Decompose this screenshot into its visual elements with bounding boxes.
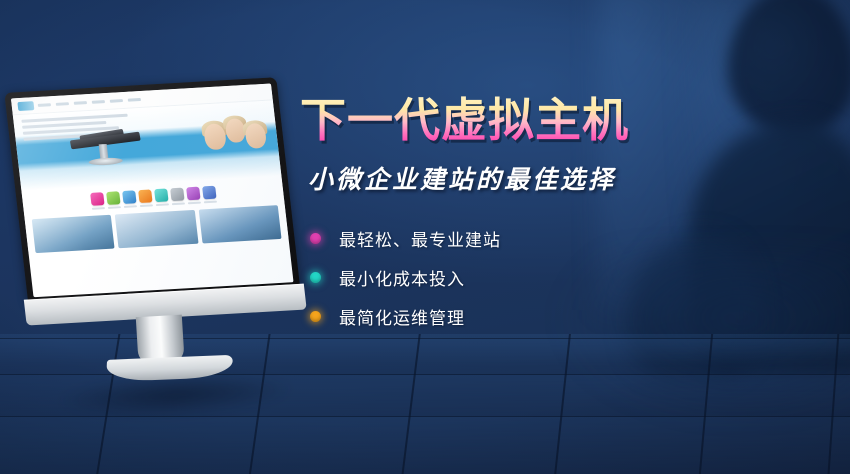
website-app-icon bbox=[154, 188, 168, 202]
promo-banner: 下一代虚拟主机 小微企业建站的最佳选择 最轻松、最专业建站 最小化成本投入 最简… bbox=[0, 0, 850, 474]
website-app-icon bbox=[122, 190, 136, 204]
feature-label: 最小化成本投入 bbox=[339, 265, 465, 290]
feature-label: 最轻松、最专业建站 bbox=[339, 226, 501, 251]
website-card bbox=[115, 210, 198, 248]
website-hero-people-photo bbox=[200, 115, 271, 163]
website-app-icon bbox=[202, 186, 216, 200]
website-nav-item bbox=[128, 97, 141, 101]
monitor-screen bbox=[11, 83, 294, 297]
website-card bbox=[198, 205, 281, 243]
banner-text-content: 下一代虚拟主机 小微企业建站的最佳选择 最轻松、最专业建站 最小化成本投入 最简… bbox=[300, 96, 720, 343]
website-nav-item bbox=[92, 100, 105, 104]
feature-list-item: 最简化运维管理 bbox=[306, 304, 720, 329]
website-hero-product-image bbox=[69, 130, 143, 168]
bullet-dot-orange bbox=[306, 307, 325, 326]
banner-title: 下一代虚拟主机 bbox=[300, 96, 720, 146]
website-nav-item bbox=[56, 102, 69, 106]
website-app-icon bbox=[106, 191, 120, 205]
website-nav-item bbox=[110, 99, 123, 103]
website-nav-item bbox=[74, 101, 87, 105]
website-hero-banner bbox=[13, 100, 282, 191]
website-logo-icon bbox=[17, 101, 34, 111]
website-app-icon bbox=[186, 187, 200, 201]
feature-list-item: 最小化成本投入 bbox=[306, 265, 720, 290]
bullet-dot-cyan bbox=[306, 268, 325, 287]
banner-subtitle: 小微企业建站的最佳选择 bbox=[308, 160, 720, 196]
website-nav-items bbox=[38, 97, 141, 106]
website-app-icon bbox=[170, 188, 184, 202]
feature-label: 最简化运维管理 bbox=[339, 304, 465, 329]
website-nav-item bbox=[38, 103, 51, 107]
feature-list: 最轻松、最专业建站 最小化成本投入 最简化运维管理 bbox=[306, 226, 720, 329]
website-app-icon bbox=[138, 189, 152, 203]
computer-monitor bbox=[0, 68, 327, 413]
website-app-icon bbox=[90, 192, 104, 206]
floor-band bbox=[0, 416, 850, 474]
feature-list-item: 最轻松、最专业建站 bbox=[306, 226, 720, 251]
monitor-bezel bbox=[4, 77, 300, 301]
bullet-dot-magenta bbox=[306, 229, 325, 248]
person-silhouette-head bbox=[728, 0, 850, 136]
website-card bbox=[32, 215, 115, 253]
